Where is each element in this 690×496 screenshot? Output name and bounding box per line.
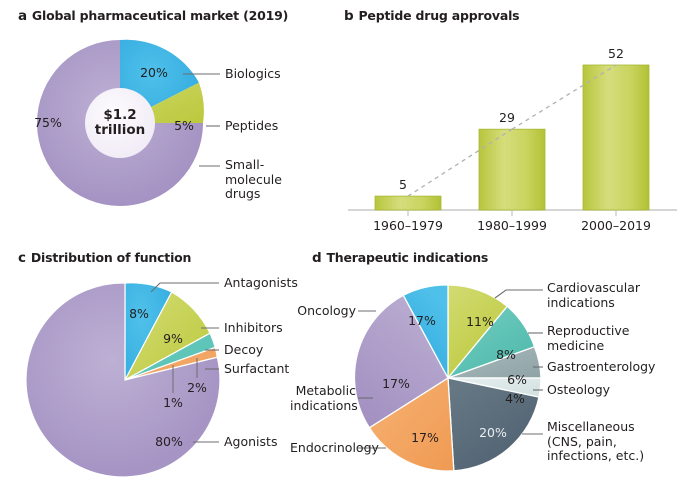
bar-value-1980-1999: 29 xyxy=(499,110,515,125)
panel-a-donut-chart: 20% 5% 75% $1.2 trillion xyxy=(8,26,338,236)
value-label-endocrinology: 17% xyxy=(411,430,439,445)
value-label-surfactant: 1% xyxy=(163,395,183,410)
panel-a-title: aGlobal pharmaceutical market (2019) xyxy=(18,8,288,24)
value-label-small-molecule-drugs: 75% xyxy=(34,115,62,130)
value-label-decoy: 2% xyxy=(187,380,207,395)
panel-c: cDistribution of function xyxy=(8,250,338,496)
value-label-metabolic-indications: 17% xyxy=(382,376,410,391)
value-label-biologics: 20% xyxy=(140,65,168,80)
bar-1960-1979 xyxy=(375,196,441,210)
label-osteology: Osteology xyxy=(547,383,610,398)
bar-value-2000-2019: 52 xyxy=(608,46,624,61)
panel-a-letter: a xyxy=(18,8,27,24)
label-small-molecule-drugs: Small- molecule drugs xyxy=(225,158,282,202)
bar-1980-1999 xyxy=(479,129,545,210)
label-reproductive-medicine: Reproductive medicine xyxy=(547,324,629,353)
x-axis-label-1: 1960–1979 xyxy=(373,218,443,233)
value-label-inhibitors: 9% xyxy=(163,331,183,346)
value-label-miscellaneous: 20% xyxy=(479,425,507,440)
panel-c-letter: c xyxy=(18,250,26,266)
value-label-gastroenterology: 6% xyxy=(507,372,527,387)
label-cardiovascular-indications: Cardiovascular indications xyxy=(547,281,640,310)
panel-b: bPeptide drug approvals 5 29 52 1960 xyxy=(340,6,685,236)
label-endocrinology: Endocrinology xyxy=(290,441,356,456)
value-label-oncology: 17% xyxy=(408,313,436,328)
label-metabolic-indications: Metabolic indications xyxy=(290,384,356,413)
x-axis-label-3: 2000–2019 xyxy=(581,218,651,233)
label-decoy: Decoy xyxy=(224,343,263,358)
x-axis-label-2: 1980–1999 xyxy=(477,218,547,233)
panel-c-title-text: Distribution of function xyxy=(31,250,191,265)
label-surfactant: Surfactant xyxy=(224,362,289,377)
panel-c-pie-chart: 8% 9% 2% 1% 80% xyxy=(8,270,338,496)
label-gastroenterology: Gastroenterology xyxy=(547,360,655,375)
panel-a: aGlobal pharmaceutical market (2019) xyxy=(8,6,338,236)
bar-value-1960-1979: 5 xyxy=(399,177,407,192)
panel-d-title-text: Therapeutic indications xyxy=(326,250,488,265)
value-label-reproductive-medicine: 8% xyxy=(496,347,516,362)
value-label-peptides: 5% xyxy=(174,118,194,133)
value-label-osteology: 4% xyxy=(505,391,525,406)
label-oncology: Oncology xyxy=(290,304,356,319)
panel-d-letter: d xyxy=(312,250,321,266)
leader-line-cardiovascular-indications xyxy=(495,290,543,298)
panel-c-title: cDistribution of function xyxy=(18,250,191,266)
label-miscellaneous: Miscellaneous (CNS, pain, infections, et… xyxy=(547,420,644,464)
value-label-cardiovascular-indications: 11% xyxy=(466,314,494,329)
donut-center-value: $1.2 xyxy=(103,107,136,123)
donut-center-unit: trillion xyxy=(95,122,146,138)
label-inhibitors: Inhibitors xyxy=(224,321,283,336)
label-biologics: Biologics xyxy=(225,67,281,82)
panel-d-title: dTherapeutic indications xyxy=(312,250,488,266)
panel-a-title-text: Global pharmaceutical market (2019) xyxy=(32,8,288,23)
label-antagonists: Antagonists xyxy=(224,276,298,291)
value-label-agonists: 80% xyxy=(155,434,183,449)
panel-d: dTherapeutic indications xyxy=(290,250,690,496)
value-label-antagonists: 8% xyxy=(129,306,149,321)
bar-2000-2019 xyxy=(583,65,649,210)
panel-b-bar-chart: 5 29 52 1960–1979 1980–1999 2000–2019 xyxy=(340,19,685,234)
label-peptides: Peptides xyxy=(225,119,278,134)
label-agonists: Agonists xyxy=(224,435,277,450)
